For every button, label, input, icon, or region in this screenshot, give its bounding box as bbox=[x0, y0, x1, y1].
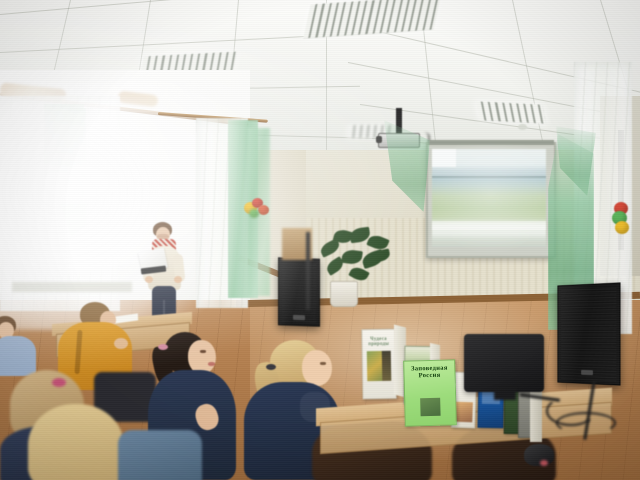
photo-scene: Woman standing at the front holding prin… bbox=[0, 0, 640, 480]
plant-foliage bbox=[316, 228, 394, 286]
slide-corner-highlight bbox=[432, 149, 456, 167]
book-title-white-nature: Чудеса природы bbox=[362, 337, 396, 348]
audience-boy-left-edge bbox=[0, 316, 38, 376]
mic-stand bbox=[306, 232, 310, 310]
ceiling-light-mid-right bbox=[476, 101, 547, 123]
book-cover-photo bbox=[420, 398, 440, 417]
computer-mouse[interactable] bbox=[524, 444, 554, 466]
hand bbox=[114, 338, 128, 349]
monitor-stand bbox=[494, 388, 516, 400]
projector-lens-icon bbox=[376, 136, 382, 143]
balloon-orange-icon bbox=[258, 205, 269, 215]
book-cover-photo-strip bbox=[382, 351, 392, 381]
book-cover-photo bbox=[454, 402, 473, 423]
chair-seat-back bbox=[118, 430, 202, 480]
hair-tie bbox=[52, 378, 66, 387]
book-title-zapovednaya: Заповедная Россия bbox=[403, 365, 455, 380]
wall-trim-left bbox=[12, 282, 132, 292]
book-white-nature[interactable]: Чудеса природы bbox=[361, 329, 396, 400]
smoke-detector-icon bbox=[518, 124, 527, 130]
hair-tie bbox=[158, 344, 168, 350]
balloon-yellow-icon bbox=[615, 221, 629, 234]
computer-monitor[interactable] bbox=[464, 334, 544, 392]
eye bbox=[320, 362, 326, 365]
presenter-hand-right bbox=[174, 276, 182, 283]
mouse-led-icon bbox=[540, 460, 548, 466]
slide-horizon-line bbox=[432, 176, 546, 178]
balloon-green-icon bbox=[249, 209, 259, 218]
mouth bbox=[208, 362, 215, 366]
book-zapovednaya-rossiya[interactable]: Заповедная Россия bbox=[403, 359, 457, 426]
presenter-hand-left bbox=[145, 276, 153, 283]
speaker-right bbox=[557, 282, 620, 385]
speaker-left bbox=[278, 257, 320, 326]
eye bbox=[200, 350, 206, 353]
hair-tie bbox=[266, 364, 276, 370]
screen-top-bar bbox=[428, 140, 554, 145]
